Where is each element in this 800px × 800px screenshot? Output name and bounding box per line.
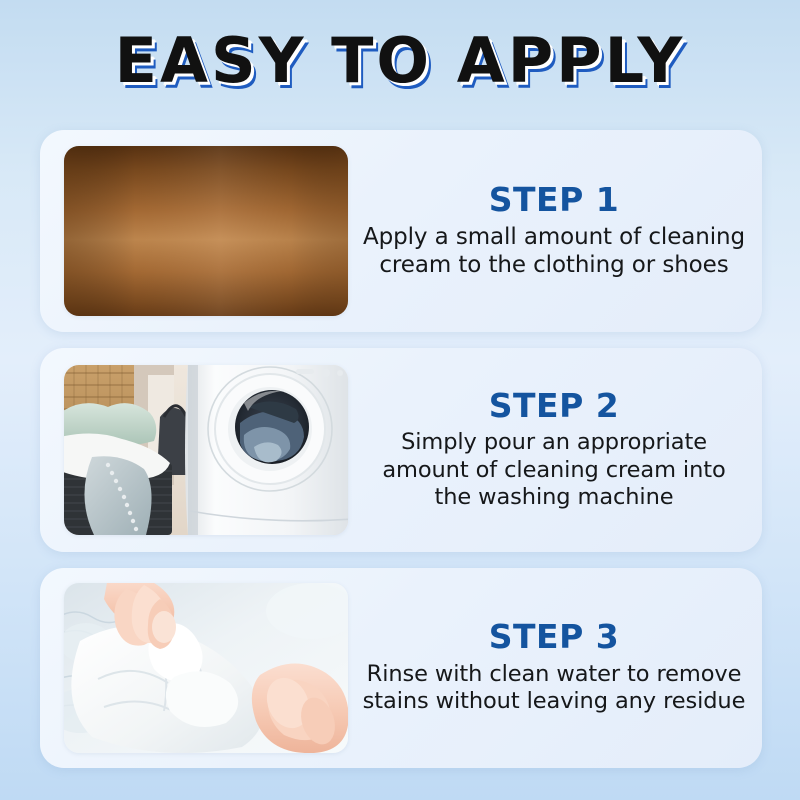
step-1-text: STEP 1 Apply a small amount of cleaning … [348,183,762,280]
step-3-description: Rinse with clean water to remove stains … [362,661,746,716]
step-card-3: STEP 3 Rinse with clean water to remove … [40,568,762,768]
steps-list: STEP 1 Apply a small amount of cleaning … [40,130,762,784]
page-title: EASY TO APPLY [115,30,686,92]
step-1-title: STEP 1 [362,183,746,218]
brown-leather-closeup-photo [64,146,348,316]
step-3-title: STEP 3 [362,620,746,655]
step-2-title: STEP 2 [362,389,746,424]
step-card-2: STEP 2 Simply pour an appropriate amount… [40,348,762,552]
page-header: EASY TO APPLY [0,0,800,112]
step-2-text: STEP 2 Simply pour an appropriate amount… [348,389,762,512]
step-3-text: STEP 3 Rinse with clean water to remove … [348,620,762,716]
hands-rinsing-white-garment-photo [64,583,348,753]
step-2-description: Simply pour an appropriate amount of cle… [362,429,746,511]
step-card-1: STEP 1 Apply a small amount of cleaning … [40,130,762,332]
washing-machine-laundry-photo [64,365,348,535]
step-1-description: Apply a small amount of cleaning cream t… [362,223,746,279]
